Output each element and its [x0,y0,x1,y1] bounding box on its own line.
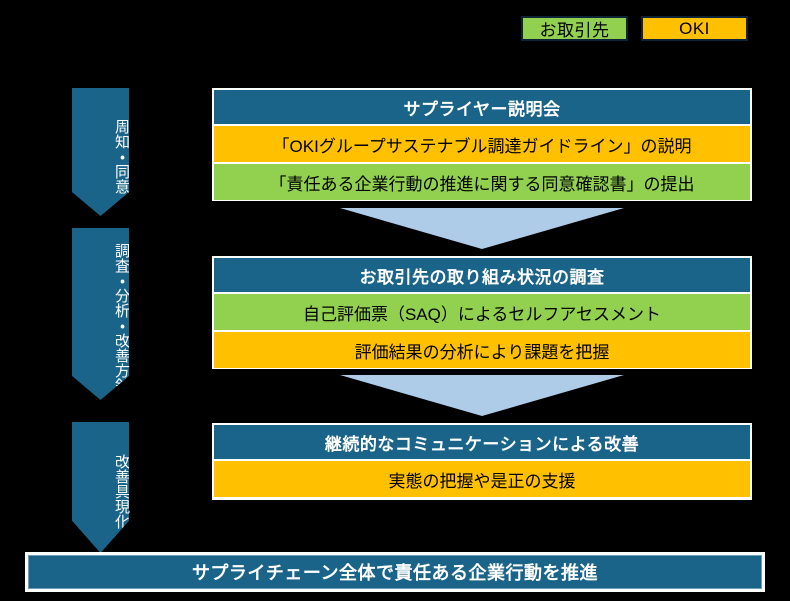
phase-arrow-improvement-label: 改善具現化 [114,454,129,529]
summary-bar-label: サプライチェーン全体で責任ある企業行動を推進 [192,559,598,585]
group-2-row-1: 自己評価票（SAQ）によるセルフアセスメント [214,294,750,330]
phase-arrow-awareness: 周知・同意 [72,88,129,216]
group-1-row-1: 「OKIグループサステナブル調達ガイドライン」の説明 [214,126,750,162]
phase-arrow-survey-analysis: 調査・分析・改善方針 [72,228,129,400]
legend-oki-label: OKI [679,19,710,39]
group-1-row-2: 「責任ある企業行動の推進に関する同意確認書」の提出 [214,164,750,200]
connector-arrow-1 [340,208,624,249]
summary-bar: サプライチェーン全体で責任ある企業行動を推進 [28,555,762,589]
group-3-heading: 継続的なコミュニケーションによる改善 [214,425,750,459]
phase-arrow-survey-analysis-label: 調査・分析・改善方針 [114,243,129,393]
connector-arrow-2 [340,375,624,416]
group-2-row-2: 評価結果の分析により課題を把握 [214,332,750,368]
legend-oki: OKI [641,16,748,41]
summary-bar-frame: サプライチェーン全体で責任ある企業行動を推進 [25,552,765,592]
process-group-continuous-communication: 継続的なコミュニケーションによる改善 実態の把握や是正の支援 [212,423,752,500]
process-group-supplier-briefing: サプライヤー説明会 「OKIグループサステナブル調達ガイドライン」の説明 「責任… [212,88,752,201]
supply-chain-process-diagram: お取引先 OKI 周知・同意 調査・分析・改善方針 改善具現化 サプライヤー説明… [0,0,790,601]
group-2-heading: お取引先の取り組み状況の調査 [214,258,750,292]
phase-arrow-awareness-label: 周知・同意 [114,119,129,194]
process-group-supplier-survey: お取引先の取り組み状況の調査 自己評価票（SAQ）によるセルフアセスメント 評価… [212,256,752,369]
legend-supplier-label: お取引先 [540,16,610,41]
phase-arrow-improvement: 改善具現化 [72,422,129,553]
group-3-row-1: 実態の把握や是正の支援 [214,461,750,497]
legend-supplier: お取引先 [521,16,628,41]
group-1-heading: サプライヤー説明会 [214,90,750,124]
